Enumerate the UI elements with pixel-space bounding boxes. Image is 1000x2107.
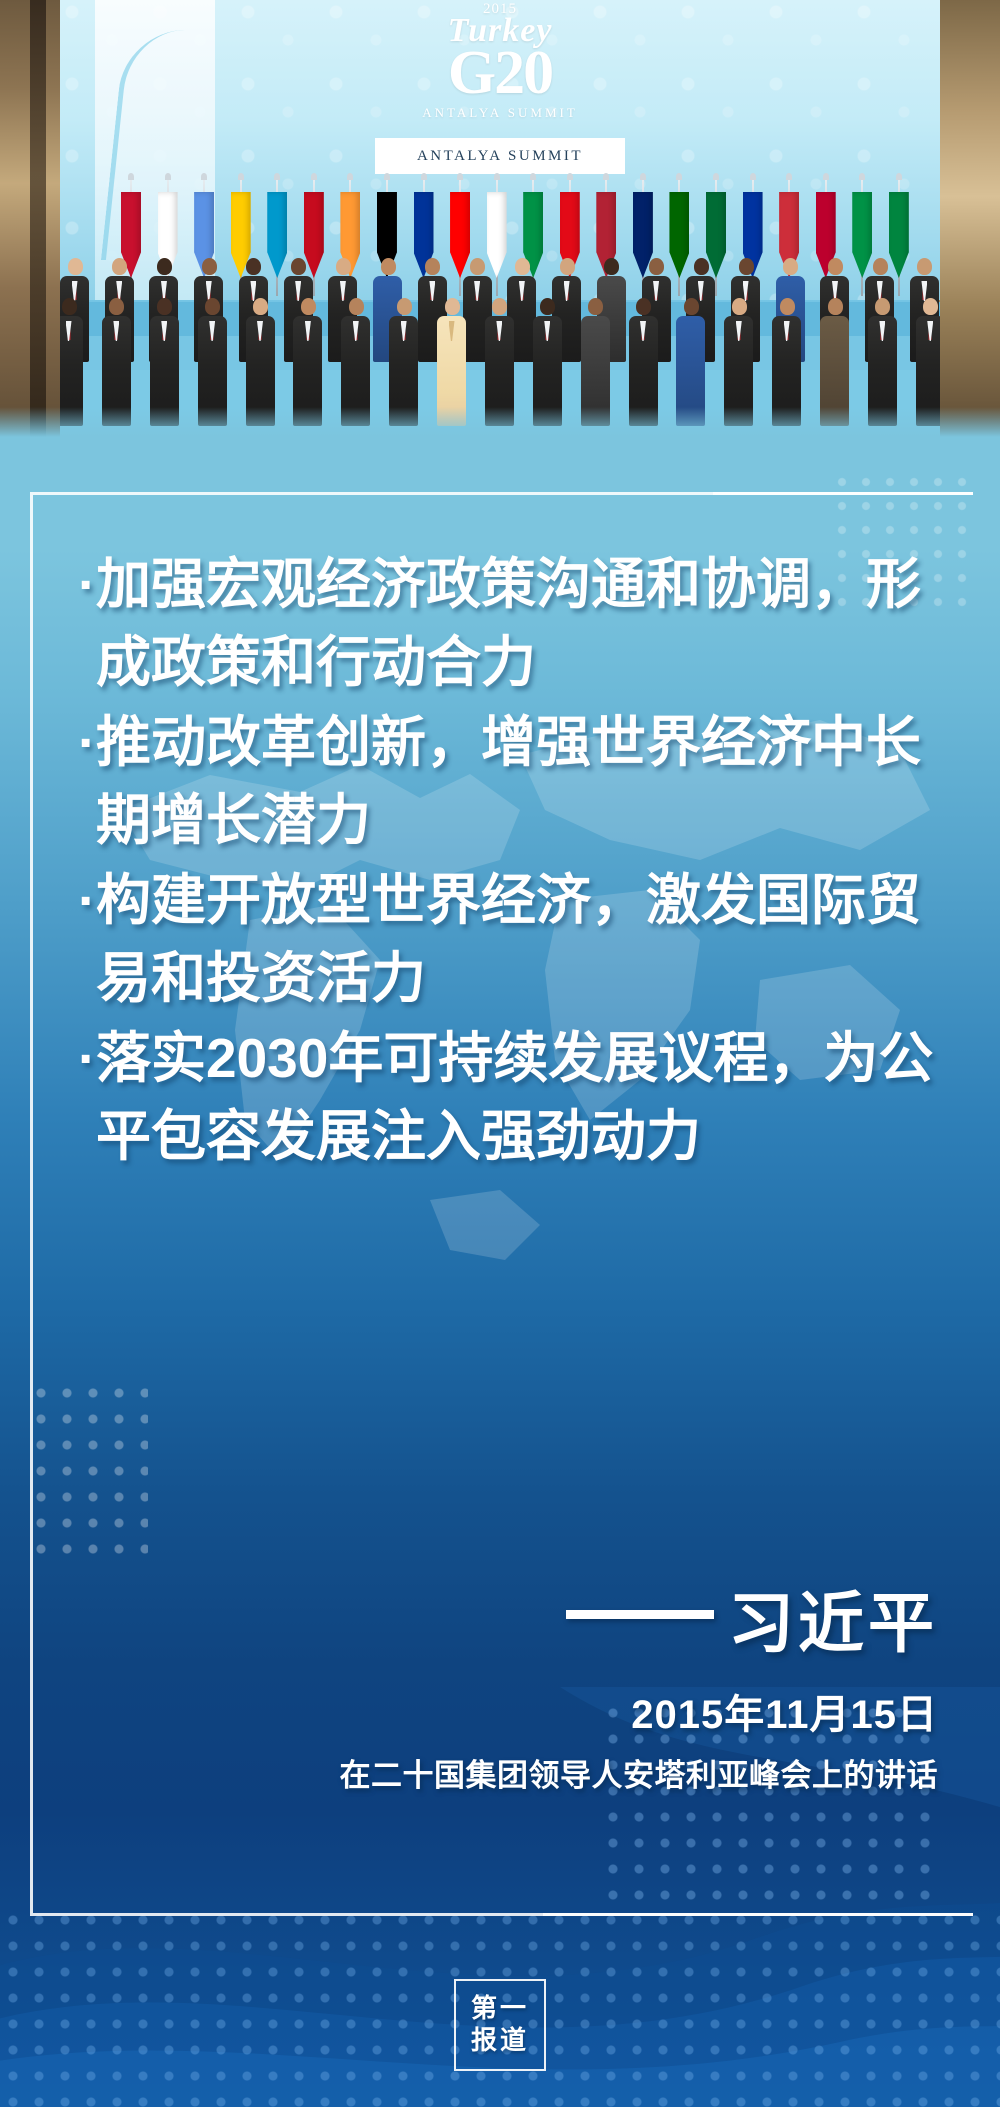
leader-head	[684, 298, 699, 315]
em-dash-rule	[566, 1610, 714, 1619]
quote-bullet-icon: ·	[78, 703, 96, 781]
quote-text: 加强宏观经济政策沟通和协调，形成政策和行动合力	[96, 545, 938, 701]
speech-occasion: 在二十国集团领导人安塔利亚峰会上的讲话	[178, 1750, 938, 1795]
leader-head	[470, 258, 485, 275]
leader-head	[301, 298, 316, 315]
quote-text: 构建开放型世界经济，激发国际贸易和投资活力	[96, 861, 938, 1017]
antalya-summit-plate: ANTALYA SUMMIT	[375, 138, 625, 174]
publisher-logo-line1: 第一	[471, 1993, 529, 2025]
leader-head	[604, 258, 619, 275]
quote-item-4: ·落实2030年可持续发展议程，为公平包容发展注入强劲动力	[78, 1019, 938, 1175]
leader-head	[157, 298, 172, 315]
leader-head	[205, 298, 220, 315]
summit-photo: 2015 Turkey G20 ANTALYA SUMMIT ANTALYA S…	[0, 0, 1000, 437]
leader-head	[246, 258, 261, 275]
leader-head	[202, 258, 217, 275]
quote-text: 推动改革创新，增强世界经济中长期增长潜力	[96, 703, 938, 859]
leader-head	[588, 298, 603, 315]
leader-head	[336, 258, 351, 275]
quote-bullet-icon: ·	[78, 861, 96, 939]
leader-head	[445, 298, 460, 315]
leader-head	[425, 258, 440, 275]
leader-head	[875, 298, 890, 315]
quote-bullet-icon: ·	[78, 545, 96, 623]
leader-head	[492, 298, 507, 315]
leader-head	[109, 298, 124, 315]
leader-head	[112, 258, 127, 275]
hall-wall-right	[930, 0, 1000, 437]
leader-head	[694, 258, 709, 275]
leader-head	[349, 298, 364, 315]
leader-head	[732, 298, 747, 315]
leader-head	[828, 258, 843, 275]
leader-head	[397, 298, 412, 315]
leader-head	[873, 258, 888, 275]
attribution-block: 习近平 2015年11月15日 在二十国集团领导人安塔利亚峰会上的讲话	[178, 1590, 938, 1795]
leader-head	[923, 298, 938, 315]
photo-bottom-fade	[0, 407, 1000, 437]
leader-head	[515, 258, 530, 275]
poster-root: 2015 Turkey G20 ANTALYA SUMMIT ANTALYA S…	[0, 0, 1000, 2107]
leader-head	[62, 298, 77, 315]
leader-head	[68, 258, 83, 275]
quote-item-1: ·加强宏观经济政策沟通和协调，形成政策和行动合力	[78, 545, 938, 701]
hall-wall-left	[0, 0, 62, 437]
halftone-dots-left	[28, 1380, 148, 1560]
publisher-logo-line2: 报道	[471, 2025, 529, 2057]
leader-head	[780, 298, 795, 315]
speech-date: 2015年11月15日	[178, 1682, 938, 1740]
quote-item-3: ·构建开放型世界经济，激发国际贸易和投资活力	[78, 861, 938, 1017]
leader-head	[828, 298, 843, 315]
quote-item-2: ·推动改革创新，增强世界经济中长期增长潜力	[78, 703, 938, 859]
leader-head	[636, 298, 651, 315]
quote-list: ·加强宏观经济政策沟通和协调，形成政策和行动合力·推动改革创新，增强世界经济中长…	[78, 545, 938, 1177]
leader-head	[253, 298, 268, 315]
leader-head	[291, 258, 306, 275]
leader-head	[157, 258, 172, 275]
quote-bullet-icon: ·	[78, 1019, 96, 1097]
leader-head	[381, 258, 396, 275]
leader-head	[739, 258, 754, 275]
author-line: 习近平	[566, 1590, 938, 1656]
leader-head	[917, 258, 932, 275]
quote-text: 落实2030年可持续发展议程，为公平包容发展注入强劲动力	[96, 1019, 938, 1175]
leader-head	[783, 258, 798, 275]
leader-head	[649, 258, 664, 275]
leader-head	[560, 258, 575, 275]
publisher-logo[interactable]: 第一 报道	[454, 1979, 546, 2071]
leader-head	[540, 298, 555, 315]
author-name: 习近平	[728, 1590, 938, 1656]
